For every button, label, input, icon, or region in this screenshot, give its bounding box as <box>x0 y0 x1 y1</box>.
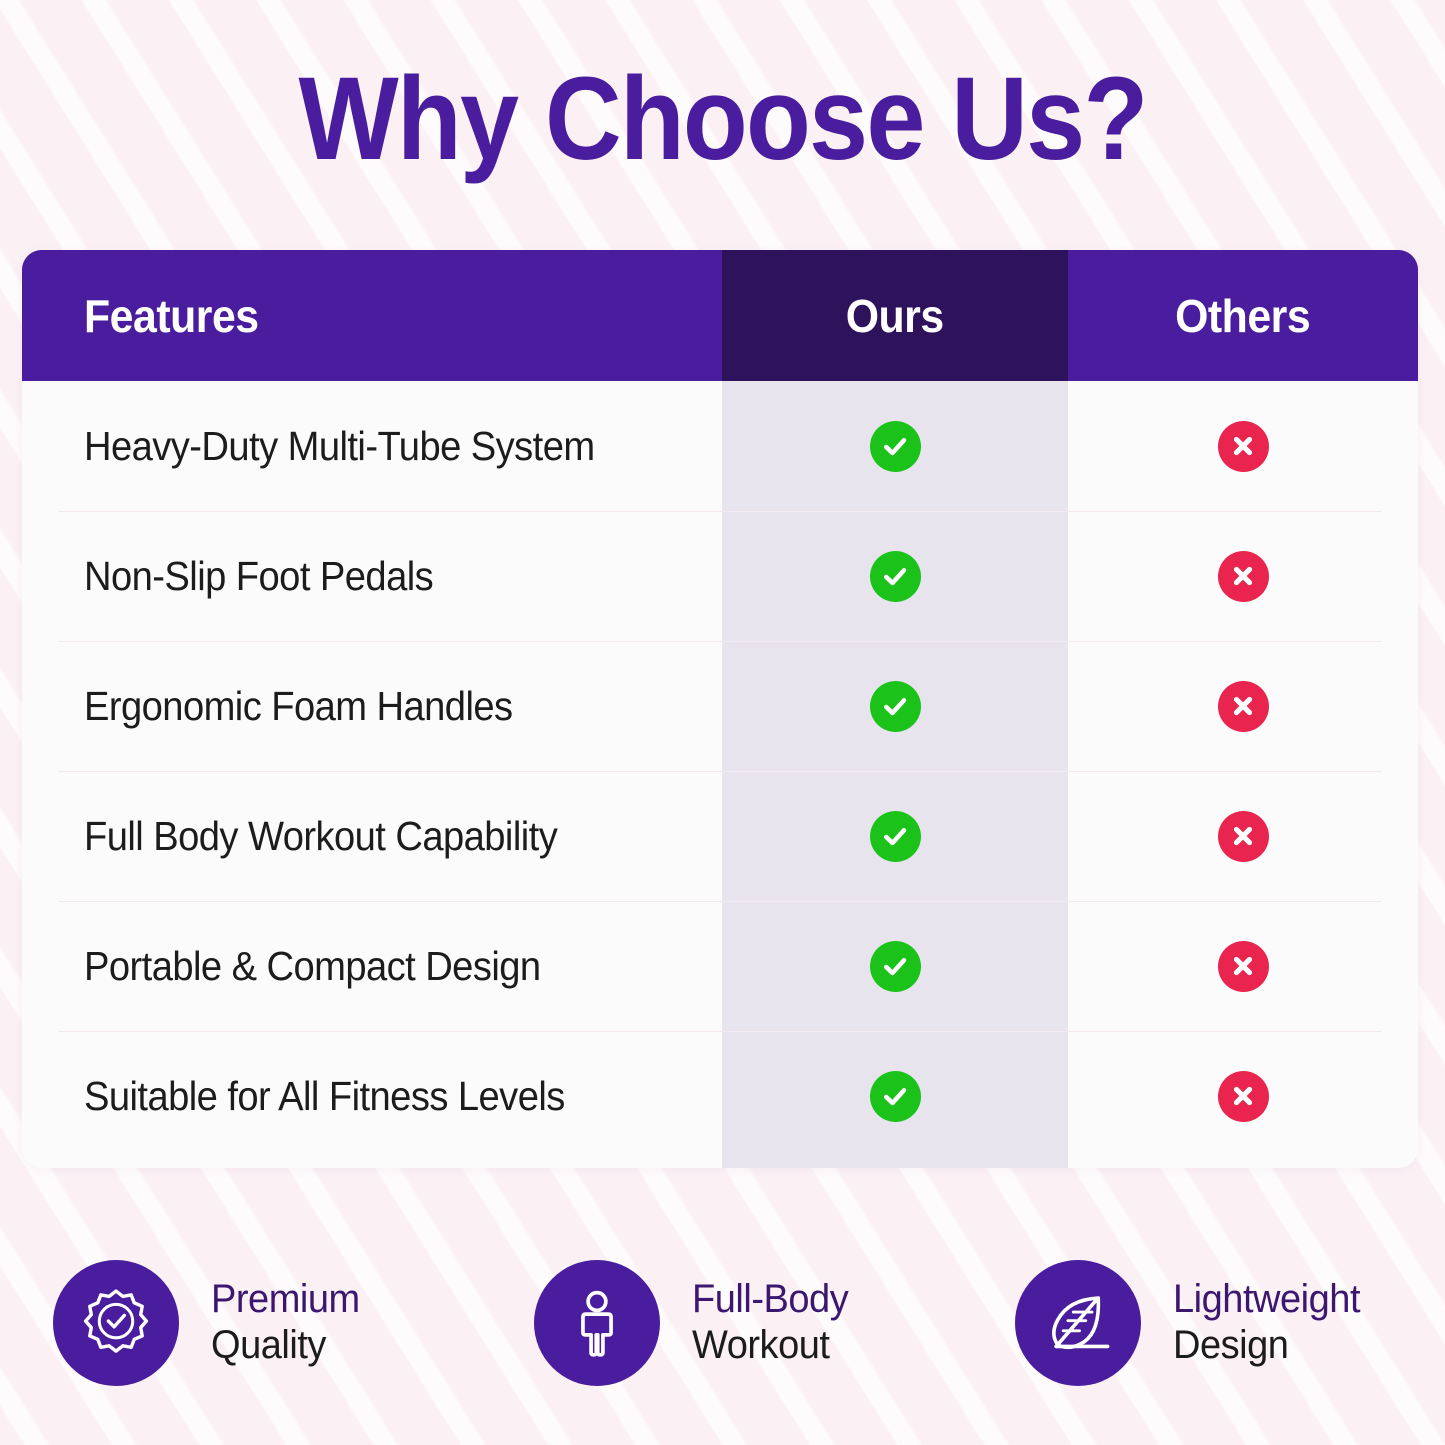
badge-line2: Workout <box>692 1323 848 1369</box>
table-row: Full Body Workout Capability <box>22 771 1418 901</box>
others-cell <box>1068 1031 1418 1161</box>
column-header-ours-label: Ours <box>846 289 944 343</box>
ours-cell <box>722 901 1068 1031</box>
check-icon <box>870 421 921 472</box>
cross-icon <box>1218 551 1269 602</box>
ours-cell <box>722 381 1068 511</box>
badge-line1: Lightweight <box>1173 1277 1360 1323</box>
column-header-features-label: Features <box>84 289 259 343</box>
feature-cell: Suitable for All Fitness Levels <box>22 1031 722 1161</box>
feature-cell: Non-Slip Foot Pedals <box>22 511 722 641</box>
feature-label: Heavy-Duty Multi-Tube System <box>84 423 595 470</box>
feature-badges-row: Premium Quality Full-Body Workout <box>0 1248 1445 1398</box>
cross-icon <box>1218 681 1269 732</box>
others-cell <box>1068 641 1418 771</box>
table-row: Non-Slip Foot Pedals <box>22 511 1418 641</box>
badge-text: Lightweight Design <box>1173 1277 1370 1368</box>
others-cell <box>1068 901 1418 1031</box>
table-row: Portable & Compact Design <box>22 901 1418 1031</box>
page-title: Why Choose Us? <box>72 60 1373 178</box>
badge-line2: Quality <box>211 1323 360 1369</box>
cross-icon <box>1218 941 1269 992</box>
badge-circle <box>53 1260 179 1386</box>
check-icon <box>870 681 921 732</box>
feature-label: Full Body Workout Capability <box>84 813 557 860</box>
others-cell <box>1068 381 1418 511</box>
table-row: Ergonomic Foam Handles <box>22 641 1418 771</box>
badge-line1: Full-Body <box>692 1277 848 1323</box>
badge-circle <box>1015 1260 1141 1386</box>
feature-label: Suitable for All Fitness Levels <box>84 1073 565 1120</box>
feature-label: Non-Slip Foot Pedals <box>84 553 433 600</box>
cross-icon <box>1218 1071 1269 1122</box>
check-icon <box>870 941 921 992</box>
feather-icon <box>1039 1284 1117 1362</box>
column-header-ours: Ours <box>722 250 1068 381</box>
column-header-others-label: Others <box>1175 289 1310 343</box>
column-header-features: Features <box>22 250 722 381</box>
badge-line2: Design <box>1173 1323 1360 1369</box>
feature-cell: Full Body Workout Capability <box>22 771 722 901</box>
table-row: Suitable for All Fitness Levels <box>22 1031 1418 1161</box>
badge-lightweight-design: Lightweight Design <box>962 1248 1443 1398</box>
feature-cell: Heavy-Duty Multi-Tube System <box>22 381 722 511</box>
ours-cell <box>722 771 1068 901</box>
comparison-table-card: Features Ours Others Heavy-Duty Multi-Tu… <box>22 250 1418 1168</box>
check-icon <box>870 811 921 862</box>
check-icon <box>870 551 921 602</box>
ours-cell <box>722 511 1068 641</box>
badge-full-body-workout: Full-Body Workout <box>481 1248 962 1398</box>
quality-seal-icon <box>78 1285 154 1361</box>
column-header-others: Others <box>1068 250 1418 381</box>
feature-cell: Portable & Compact Design <box>22 901 722 1031</box>
cross-icon <box>1218 811 1269 862</box>
badge-premium-quality: Premium Quality <box>0 1248 481 1398</box>
badge-text: Premium Quality <box>211 1277 368 1368</box>
others-cell <box>1068 511 1418 641</box>
ours-cell <box>722 1031 1068 1161</box>
ours-cell <box>722 641 1068 771</box>
badge-line1: Premium <box>211 1277 360 1323</box>
table-header: Features Ours Others <box>22 250 1418 381</box>
person-body-icon <box>560 1286 634 1360</box>
why-choose-us-page: Why Choose Us? Features Ours Others Heav… <box>0 0 1445 1445</box>
badge-text: Full-Body Workout <box>692 1277 856 1368</box>
feature-label: Portable & Compact Design <box>84 943 541 990</box>
cross-icon <box>1218 421 1269 472</box>
table-body: Heavy-Duty Multi-Tube System Non-Slip Fo… <box>22 381 1418 1161</box>
feature-label: Ergonomic Foam Handles <box>84 683 513 730</box>
feature-cell: Ergonomic Foam Handles <box>22 641 722 771</box>
others-cell <box>1068 771 1418 901</box>
check-icon <box>870 1071 921 1122</box>
badge-circle <box>534 1260 660 1386</box>
table-row: Heavy-Duty Multi-Tube System <box>22 381 1418 511</box>
